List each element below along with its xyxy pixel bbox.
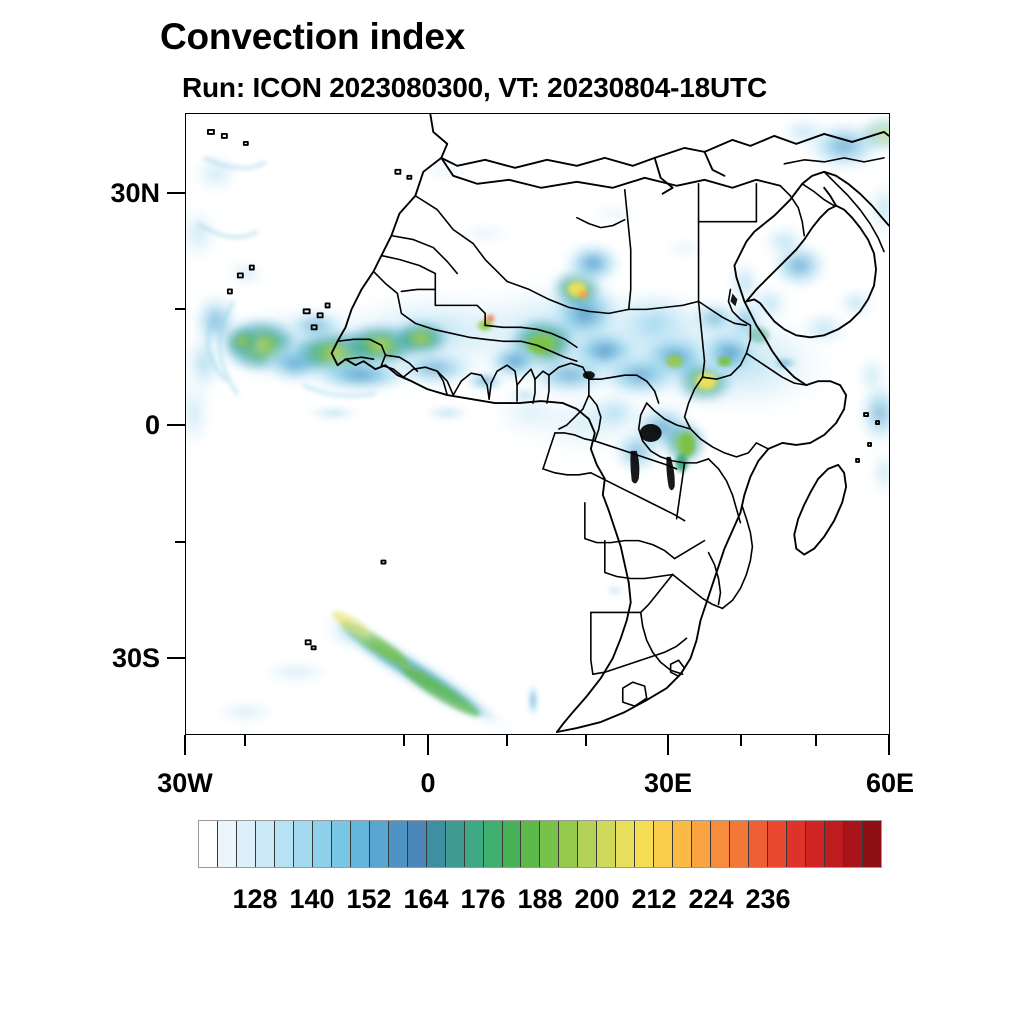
colorbar-band <box>806 821 825 867</box>
colorbar-band <box>692 821 711 867</box>
y-tick-minor-15s <box>175 541 185 543</box>
colorbar-band <box>389 821 408 867</box>
colorbar-band <box>199 821 218 867</box>
x-tick-minor-10e <box>506 735 508 746</box>
map-plot-area <box>185 113 890 735</box>
colorbar-band <box>237 821 256 867</box>
colorbar-band <box>863 821 881 867</box>
colorbar-tick-label: 128 <box>232 884 277 915</box>
colorbar-band <box>635 821 654 867</box>
colorbar-band <box>427 821 446 867</box>
colorbar-band <box>218 821 237 867</box>
colorbar-band <box>540 821 559 867</box>
colorbar-band <box>408 821 427 867</box>
x-tick-minor-10w <box>403 735 405 746</box>
colorbar-tick-labels: 128140152164176188200212224236 <box>198 884 882 920</box>
colorbar-band <box>351 821 370 867</box>
colorbar-band <box>616 821 635 867</box>
colorbar-tick-label: 224 <box>688 884 733 915</box>
colorbar-band <box>597 821 616 867</box>
x-tick-major-30w <box>184 735 186 755</box>
colorbar-tick-label: 152 <box>346 884 391 915</box>
colorbar-band <box>578 821 597 867</box>
colorbar-band <box>825 821 844 867</box>
page-title: Convection index <box>160 16 465 58</box>
colorbar-band <box>275 821 294 867</box>
colorbar-band <box>521 821 540 867</box>
x-tick-label-0: 0 <box>368 768 488 799</box>
x-tick-label-30e: 30E <box>608 768 728 799</box>
x-tick-major-60e <box>888 735 890 755</box>
colorbar-band <box>503 821 522 867</box>
y-tick-label-0: 0 <box>60 410 160 441</box>
figure-root: Convection index Run: ICON 2023080300, V… <box>0 0 1024 1024</box>
y-tick-major-30n <box>167 192 185 194</box>
colorbar-tick-label: 200 <box>574 884 619 915</box>
y-tick-label-30n: 30N <box>60 178 160 209</box>
x-tick-minor-40e <box>740 735 742 746</box>
colorbar-tick-label: 212 <box>631 884 676 915</box>
x-tick-label-30w: 30W <box>125 768 245 799</box>
colorbar-band <box>711 821 730 867</box>
y-tick-major-0 <box>167 424 185 426</box>
colorbar-tick-label: 140 <box>289 884 334 915</box>
colorbar-band <box>313 821 332 867</box>
colorbar-tick-label: 188 <box>517 884 562 915</box>
y-tick-minor-15n <box>175 308 185 310</box>
colorbar-band <box>768 821 787 867</box>
x-tick-minor-50e <box>815 735 817 746</box>
map-canvas <box>186 114 889 734</box>
colorbar-band <box>654 821 673 867</box>
colorbar-band <box>370 821 389 867</box>
colorbar-band <box>294 821 313 867</box>
x-tick-major-30e <box>667 735 669 755</box>
colorbar-band <box>484 821 503 867</box>
x-tick-minor-20w <box>244 735 246 746</box>
x-tick-major-0 <box>427 735 429 755</box>
y-tick-label-30s: 30S <box>60 643 160 674</box>
colorbar-band <box>787 821 806 867</box>
figure-subtitle: Run: ICON 2023080300, VT: 20230804-18UTC <box>182 72 767 104</box>
colorbar-band <box>446 821 465 867</box>
x-tick-minor-20e <box>585 735 587 746</box>
y-tick-major-30s <box>167 657 185 659</box>
colorbar-band <box>256 821 275 867</box>
colorbar-tick-label: 164 <box>403 884 448 915</box>
colorbar-band <box>749 821 768 867</box>
colorbar-band <box>332 821 351 867</box>
colorbar-band <box>559 821 578 867</box>
colorbar-band <box>730 821 749 867</box>
colorbar-band <box>673 821 692 867</box>
colorbar-tick-label: 236 <box>745 884 790 915</box>
colorbar-band <box>465 821 484 867</box>
colorbar[interactable] <box>198 820 882 868</box>
colorbar-tick-label: 176 <box>460 884 505 915</box>
x-tick-label-60e: 60E <box>830 768 950 799</box>
colorbar-band <box>844 821 863 867</box>
